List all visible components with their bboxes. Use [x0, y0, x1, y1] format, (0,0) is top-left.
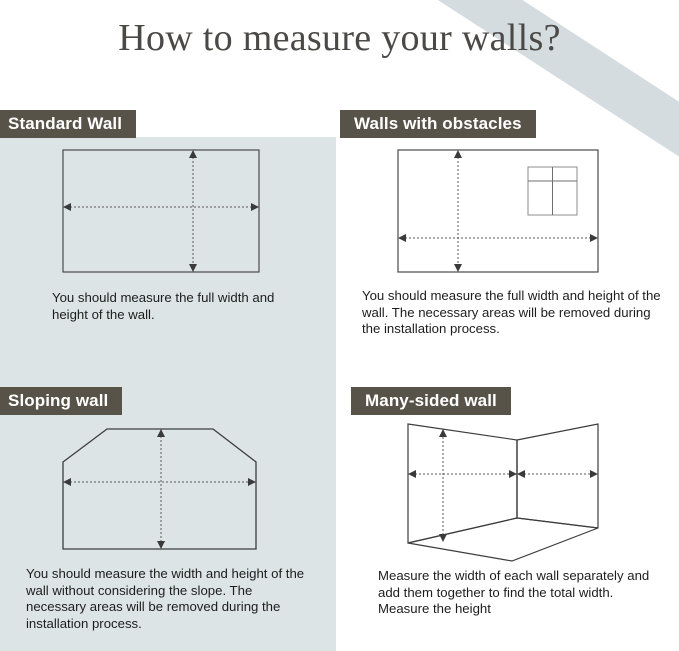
width-arrow-left: [63, 203, 71, 211]
caption-standard-wall: You should measure the full width and he…: [52, 290, 302, 323]
caption-sloping-wall: You should measure the width and height …: [26, 566, 316, 632]
right-wall-panel: [517, 424, 598, 528]
diagram-walls-with-obstacles: [380, 140, 615, 285]
height-arrow-top: [454, 150, 462, 158]
height-arrow-bottom: [189, 264, 197, 272]
floor-panel: [408, 518, 598, 561]
section-heading-walls-with-obstacles: Walls with obstacles: [340, 110, 536, 138]
height-arrow-bottom: [157, 541, 165, 549]
right-wall-width-arrow-right: [590, 470, 598, 478]
infographic-page: How to measure your walls? Standard Wall…: [0, 0, 679, 651]
section-heading-standard-wall: Standard Wall: [0, 110, 136, 138]
caption-walls-with-obstacles: You should measure the full width and he…: [362, 288, 662, 338]
diagram-many-sided-wall: [375, 415, 625, 570]
section-heading-many-sided-wall: Many-sided wall: [351, 387, 511, 415]
section-heading-sloping-wall: Sloping wall: [0, 387, 122, 415]
width-arrow-right: [251, 203, 259, 211]
left-wall-width-arrow-right: [509, 470, 517, 478]
caption-many-sided-wall: Measure the width of each wall separatel…: [378, 568, 663, 618]
wall-outline: [63, 150, 259, 272]
height-arrow-bottom: [454, 264, 462, 272]
right-wall-width-arrow-left: [517, 470, 525, 478]
diagram-standard-wall: [40, 140, 290, 285]
left-wall-width-arrow-left: [408, 470, 416, 478]
wall-outline: [398, 150, 598, 272]
height-arrow-top: [157, 429, 165, 437]
height-arrow-top: [439, 429, 447, 437]
width-arrow-left: [63, 478, 71, 486]
height-arrow-bottom: [439, 534, 447, 542]
width-arrow-left: [398, 234, 406, 242]
height-arrow-top: [189, 150, 197, 158]
wall-outline: [63, 429, 256, 549]
left-wall-panel: [408, 424, 517, 543]
width-arrow-right: [248, 478, 256, 486]
page-title: How to measure your walls?: [0, 16, 679, 60]
diagram-sloping-wall: [20, 418, 280, 568]
width-arrow-right: [590, 234, 598, 242]
